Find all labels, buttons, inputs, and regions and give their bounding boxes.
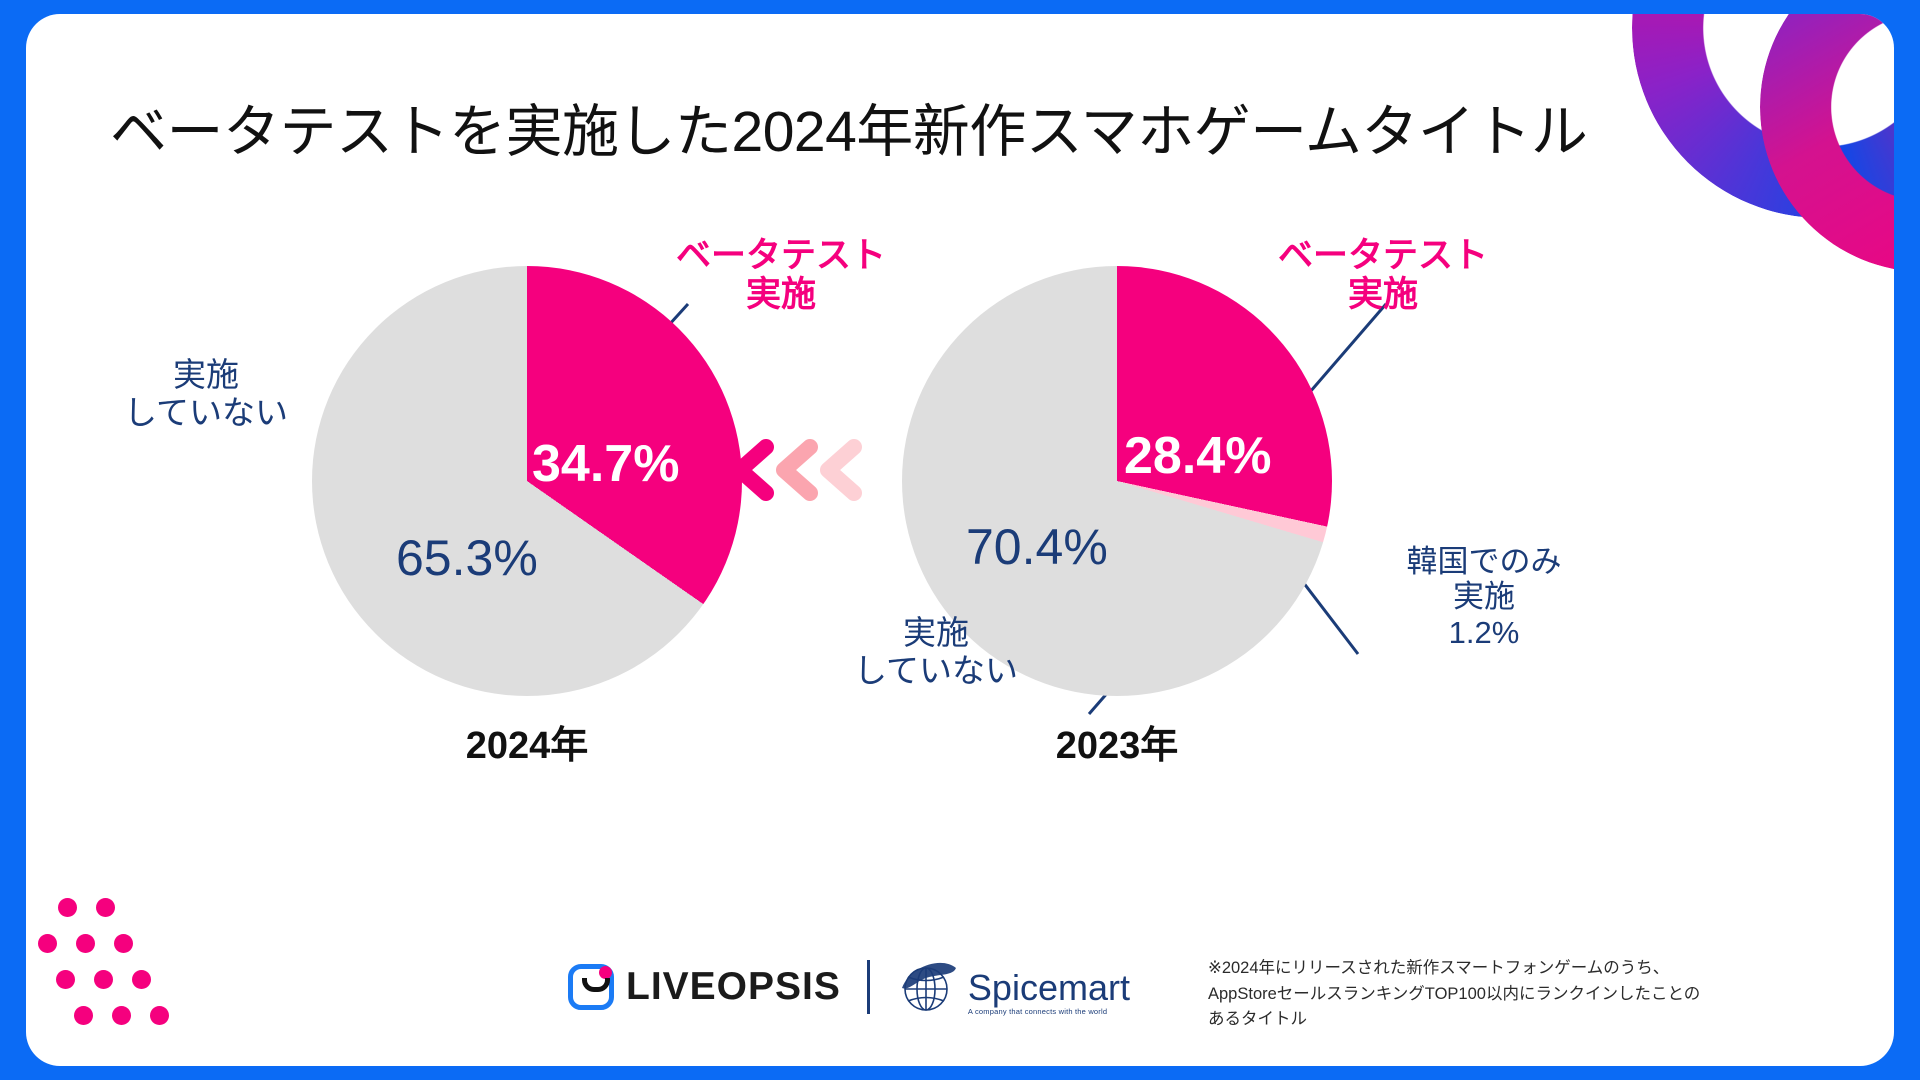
spicemart-tagline: A company that connects with the world bbox=[968, 1007, 1130, 1016]
spicemart-wordmark: Spicemart bbox=[968, 971, 1130, 1005]
pie-2023-callout-beta-label: ベータテスト 実施 bbox=[1248, 236, 1518, 314]
liveopsis-wordmark: LIVEOPSIS bbox=[626, 965, 841, 1009]
footnote-text: ※2024年にリリースされた新作スマートフォンゲームのうち、 AppStoreセ… bbox=[1208, 956, 1728, 1033]
pie-2024-value-beta: 34.7% bbox=[532, 434, 679, 494]
pie-2023-callout-korea-label: 韓国でのみ 実施 1.2% bbox=[1364, 544, 1604, 650]
logo-divider bbox=[867, 960, 870, 1014]
pie-chart-2024: 34.7% 65.3% 2024年 bbox=[312, 266, 742, 696]
pie-2024-callout-beta-label: ベータテスト 実施 bbox=[646, 236, 916, 314]
pie-2024-year-label: 2024年 bbox=[312, 714, 742, 769]
pie-2023-year-label: 2023年 bbox=[902, 714, 1332, 769]
footer: LIVEOPSIS Spicemart A bbox=[26, 936, 1894, 1066]
charts-container: 34.7% 65.3% 2024年 ベータテスト 実施 実施 していない 28.… bbox=[26, 14, 1894, 1066]
spicemart-logo-group: Spicemart A company that connects with t… bbox=[896, 958, 1130, 1016]
pie-2023-value-none: 70.4% bbox=[966, 518, 1108, 576]
logo-group: LIVEOPSIS Spicemart A bbox=[568, 958, 1130, 1016]
globe-icon bbox=[896, 958, 962, 1016]
decrease-arrows-icon bbox=[726, 439, 866, 501]
pie-2024-value-none: 65.3% bbox=[396, 529, 538, 587]
liveopsis-logo-icon bbox=[568, 964, 614, 1010]
liveopsis-logo-dot-icon bbox=[599, 966, 612, 979]
pie-2024-callout-none-label: 実施 していない bbox=[86, 356, 326, 431]
pie-2023-value-beta: 28.4% bbox=[1124, 426, 1271, 486]
pie-2023-callout-none-label: 実施 していない bbox=[816, 614, 1056, 689]
slide-card: ベータテストを実施した2024年新作スマホゲームタイトル 34.7% 65.3%… bbox=[26, 14, 1894, 1066]
